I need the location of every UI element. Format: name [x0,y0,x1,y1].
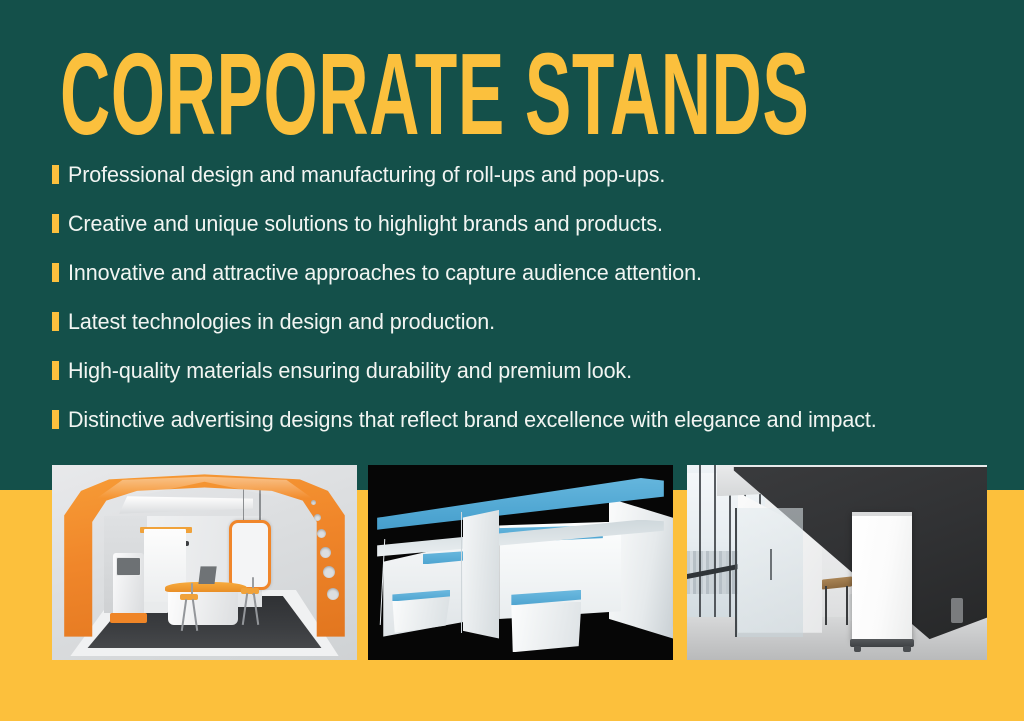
photo2-counter-right [511,602,581,653]
list-item: Professional design and manufacturing of… [52,160,992,189]
photo1-stool-seat [180,594,198,600]
bullet-square-icon [52,312,59,331]
photo3-banner-top-rail [852,512,912,516]
photo1-storage-box [140,602,167,614]
bullet-text: Innovative and attractive approaches to … [68,258,702,287]
photo1-stool-leg [192,599,198,631]
photo1-stool-leg [253,593,259,625]
bullet-square-icon [52,410,59,429]
bullet-text: Distinctive advertising designs that ref… [68,405,877,434]
photo1-stool-leg [181,599,187,631]
photo1-arch-hole [327,588,339,600]
bullet-text: Latest technologies in design and produc… [68,307,495,336]
photo1-laptop [198,566,216,584]
photo3-rollup-banner [852,512,912,641]
bullet-square-icon [52,214,59,233]
photo1-bar-stool [241,588,259,625]
list-item: Innovative and attractive approaches to … [52,258,992,287]
list-item: High-quality materials ensuring durabili… [52,356,992,385]
photo3-window-mullion [699,465,701,633]
photo1-kiosk-screen [116,557,141,577]
bullet-square-icon [52,263,59,282]
feature-bullet-list: Professional design and manufacturing of… [52,160,992,454]
photo3-window-mullion [714,465,716,633]
photo1-stool-seat [241,588,259,594]
photo-office-rollup-banner [687,465,987,660]
photo1-hanging-lightbox [229,520,272,590]
photo-gallery [0,465,1024,661]
bullet-text: Creative and unique solutions to highlig… [68,209,663,238]
photo3-banner-foot [854,646,862,652]
photo2-center-divider-panel [463,510,500,639]
bullet-text: High-quality materials ensuring durabili… [68,356,632,385]
photo1-bar-stool [180,594,198,631]
page-title-container: CORPORATE STANDS [60,42,960,150]
list-item: Distinctive advertising designs that ref… [52,405,992,434]
photo1-kiosk-base [110,613,147,623]
page-title: CORPORATE STANDS [60,42,600,146]
photo1-counter-body [168,590,238,625]
photo-orange-arch-stand [52,465,357,660]
photo3-banner-foot [903,646,911,652]
photo1-stool-leg [242,593,248,625]
photo3-stool [951,598,963,623]
photo3-table-leg [825,586,827,625]
list-item: Creative and unique solutions to highlig… [52,209,992,238]
photo3-door-handle [770,549,772,580]
photo-blue-white-booth [368,465,673,660]
photo2-support-pole [461,512,462,633]
slide-root: CORPORATE STANDS Professional design and… [0,0,1024,721]
bullet-square-icon [52,361,59,380]
photo3-table-leg [846,586,848,625]
bullet-text: Professional design and manufacturing of… [68,160,665,189]
list-item: Latest technologies in design and produc… [52,307,992,336]
bullet-square-icon [52,165,59,184]
